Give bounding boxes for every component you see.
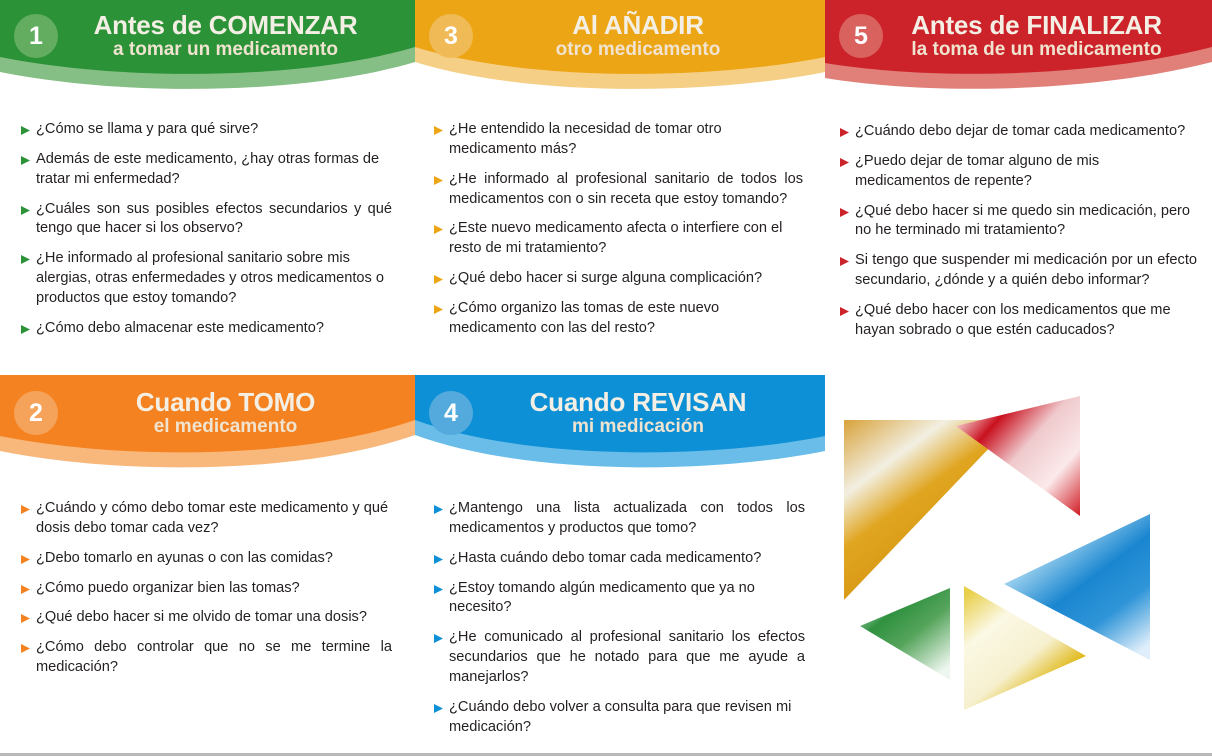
list-item: ¿He informado al profesional sanitario d…	[433, 170, 803, 210]
panel-1-number-badge: 1	[14, 14, 58, 58]
panel-antes-de-comenzar: 1 Antes de COMENZAR a tomar un medicamen…	[0, 0, 415, 370]
question-text: Si tengo que suspender mi medicación por…	[855, 251, 1197, 291]
panel-cuando-tomo: 2 Cuando TOMO el medicamento ¿Cuándo y c…	[0, 375, 415, 753]
question-text: ¿Qué debo hacer si surge alguna complica…	[449, 269, 803, 289]
triangle-bullet-icon	[433, 633, 449, 644]
panel-2-titles: Cuando TOMO el medicamento	[58, 389, 415, 437]
triangle-bullet-icon	[20, 125, 36, 136]
list-item: Además de este medicamento, ¿hay otras f…	[20, 150, 392, 190]
panel-2-title: Cuando TOMO	[58, 389, 393, 416]
panel-4-number-badge: 4	[429, 391, 473, 435]
list-item: ¿Estoy tomando algún medicamento que ya …	[433, 579, 805, 619]
list-item: ¿Hasta cuándo debo tomar cada medicament…	[433, 549, 805, 569]
question-text: ¿Cómo debo almacenar este medicamento?	[36, 319, 392, 339]
question-text: ¿Hasta cuándo debo tomar cada medicament…	[449, 549, 805, 569]
pills-illustration	[838, 388, 1198, 733]
panel-3-subtitle: otro medicamento	[473, 40, 803, 60]
list-item: ¿Mantengo una lista actualizada con todo…	[433, 499, 805, 539]
list-item: ¿Cuándo debo dejar de tomar cada medicam…	[839, 122, 1197, 142]
list-item: ¿Cómo puedo organizar bien las tomas?	[20, 579, 392, 599]
triangle-bullet-icon	[20, 554, 36, 565]
panel-4-titles: Cuando REVISAN mi medicación	[473, 389, 825, 437]
triangle-bullet-icon	[839, 306, 855, 317]
list-item: ¿Debo tomarlo en ayunas o con las comida…	[20, 549, 392, 569]
panel-2-number-badge: 2	[14, 391, 58, 435]
triangle-bullet-icon	[433, 125, 449, 136]
list-item: ¿Cómo organizo las tomas de este nuevo m…	[433, 299, 803, 339]
list-item: ¿Qué debo hacer si me quedo sin medicaci…	[839, 202, 1197, 242]
panel-cuando-revisan: 4 Cuando REVISAN mi medicación ¿Mantengo…	[415, 375, 825, 753]
panel-1-subtitle: a tomar un medicamento	[58, 40, 393, 60]
triangle-bullet-icon	[839, 207, 855, 218]
panel-5-question-list: ¿Cuándo debo dejar de tomar cada medicam…	[839, 122, 1197, 351]
triangle-bullet-icon	[433, 584, 449, 595]
panel-1-question-list: ¿Cómo se llama y para qué sirve? Además …	[20, 120, 392, 349]
triangle-bullet-icon	[839, 256, 855, 267]
question-text: Además de este medicamento, ¿hay otras f…	[36, 150, 392, 190]
triangle-bullet-icon	[20, 324, 36, 335]
question-text: ¿Cuándo debo dejar de tomar cada medicam…	[855, 122, 1197, 142]
panel-5-subtitle: la toma de un medicamento	[883, 40, 1190, 60]
triangle-bullet-icon	[20, 254, 36, 265]
question-text: ¿Puedo dejar de tomar alguno de mis medi…	[855, 152, 1197, 192]
triangle-bullet-icon	[433, 274, 449, 285]
list-item: ¿Qué debo hacer con los medicamentos que…	[839, 301, 1197, 341]
triangle-bullet-icon	[433, 304, 449, 315]
triangle-bullet-icon	[20, 613, 36, 624]
triangle-bullet-icon	[20, 205, 36, 216]
question-text: ¿Cuándo debo volver a consulta para que …	[449, 698, 805, 738]
triangle-bullet-icon	[433, 554, 449, 565]
list-item: ¿Cuándo debo volver a consulta para que …	[433, 698, 805, 738]
question-text: ¿Cómo puedo organizar bien las tomas?	[36, 579, 392, 599]
list-item: ¿Cómo debo controlar que no se me termin…	[20, 638, 392, 678]
triangle-bullet-icon	[433, 224, 449, 235]
triangle-bullet-icon	[433, 504, 449, 515]
infographic-sheet: 1 Antes de COMENZAR a tomar un medicamen…	[0, 0, 1212, 753]
list-item: ¿Este nuevo medicamento afecta o interfi…	[433, 219, 803, 259]
panel-antes-de-finalizar: 5 Antes de FINALIZAR la toma de un medic…	[825, 0, 1212, 370]
list-item: ¿Cómo debo almacenar este medicamento?	[20, 319, 392, 339]
list-item: ¿He informado al profesional sanitario s…	[20, 249, 392, 309]
triangle-bullet-icon	[839, 127, 855, 138]
pills-triangles-svg	[838, 388, 1198, 733]
question-text: ¿He informado al profesional sanitario d…	[449, 170, 803, 210]
question-text: ¿Cuáles son sus posibles efectos secunda…	[36, 200, 392, 240]
question-text: ¿He informado al profesional sanitario s…	[36, 249, 392, 309]
panel-3-question-list: ¿He entendido la necesidad de tomar otro…	[433, 120, 803, 349]
list-item: ¿He entendido la necesidad de tomar otro…	[433, 120, 803, 160]
triangle-bullet-icon	[20, 643, 36, 654]
question-text: ¿Cómo organizo las tomas de este nuevo m…	[449, 299, 803, 339]
question-text: ¿He entendido la necesidad de tomar otro…	[449, 120, 803, 160]
panel-3-title: Al AÑADIR	[473, 12, 803, 39]
panel-2-question-list: ¿Cuándo y cómo debo tomar este medicamen…	[20, 499, 392, 688]
panel-5-number-badge: 5	[839, 14, 883, 58]
question-text: ¿Debo tomarlo en ayunas o con las comida…	[36, 549, 392, 569]
question-text: ¿Mantengo una lista actualizada con todo…	[449, 499, 805, 539]
question-text: ¿Qué debo hacer si me quedo sin medicaci…	[855, 202, 1197, 242]
panel-3-titles: Al AÑADIR otro medicamento	[473, 12, 825, 60]
panel-1-banner: 1 Antes de COMENZAR a tomar un medicamen…	[0, 0, 415, 96]
panel-1-header: 1 Antes de COMENZAR a tomar un medicamen…	[0, 0, 415, 72]
panel-1-titles: Antes de COMENZAR a tomar un medicamento	[58, 12, 415, 60]
panel-5-banner: 5 Antes de FINALIZAR la toma de un medic…	[825, 0, 1212, 96]
list-item: ¿Qué debo hacer si surge alguna complica…	[433, 269, 803, 289]
question-text: ¿Cuándo y cómo debo tomar este medicamen…	[36, 499, 392, 539]
panel-4-banner: 4 Cuando REVISAN mi medicación	[415, 375, 825, 475]
panel-2-banner: 2 Cuando TOMO el medicamento	[0, 375, 415, 475]
triangle-bullet-icon	[20, 155, 36, 166]
panel-al-anadir: 3 Al AÑADIR otro medicamento ¿He entendi…	[415, 0, 825, 370]
triangle-bullet-icon	[839, 157, 855, 168]
panel-3-header: 3 Al AÑADIR otro medicamento	[415, 0, 825, 72]
panel-2-header: 2 Cuando TOMO el medicamento	[0, 375, 415, 451]
question-text: ¿Cómo se llama y para qué sirve?	[36, 120, 392, 140]
triangle-bullet-icon	[20, 584, 36, 595]
list-item: ¿Cuáles son sus posibles efectos secunda…	[20, 200, 392, 240]
panel-3-banner: 3 Al AÑADIR otro medicamento	[415, 0, 825, 96]
triangle-green-capsule	[860, 588, 950, 680]
panel-4-title: Cuando REVISAN	[473, 389, 803, 416]
list-item: ¿Qué debo hacer si me olvido de tomar un…	[20, 608, 392, 628]
triangle-bullet-icon	[433, 703, 449, 714]
list-item: Si tengo que suspender mi medicación por…	[839, 251, 1197, 291]
list-item: ¿Cuándo y cómo debo tomar este medicamen…	[20, 499, 392, 539]
panel-5-title: Antes de FINALIZAR	[883, 12, 1190, 39]
panel-3-number-badge: 3	[429, 14, 473, 58]
question-text: ¿He comunicado al profesional sanitario …	[449, 628, 805, 688]
panel-4-subtitle: mi medicación	[473, 417, 803, 437]
triangle-bullet-icon	[433, 175, 449, 186]
panel-2-subtitle: el medicamento	[58, 417, 393, 437]
list-item: ¿He comunicado al profesional sanitario …	[433, 628, 805, 688]
triangle-bullet-icon	[20, 504, 36, 515]
panel-4-header: 4 Cuando REVISAN mi medicación	[415, 375, 825, 451]
question-text: ¿Este nuevo medicamento afecta o interfi…	[449, 219, 803, 259]
question-text: ¿Cómo debo controlar que no se me termin…	[36, 638, 392, 678]
list-item: ¿Puedo dejar de tomar alguno de mis medi…	[839, 152, 1197, 192]
panel-1-title: Antes de COMENZAR	[58, 12, 393, 39]
question-text: ¿Qué debo hacer con los medicamentos que…	[855, 301, 1197, 341]
panel-4-question-list: ¿Mantengo una lista actualizada con todo…	[433, 499, 805, 747]
question-text: ¿Qué debo hacer si me olvido de tomar un…	[36, 608, 392, 628]
panel-5-titles: Antes de FINALIZAR la toma de un medicam…	[883, 12, 1212, 60]
question-text: ¿Estoy tomando algún medicamento que ya …	[449, 579, 805, 619]
list-item: ¿Cómo se llama y para qué sirve?	[20, 120, 392, 140]
panel-5-header: 5 Antes de FINALIZAR la toma de un medic…	[825, 0, 1212, 72]
